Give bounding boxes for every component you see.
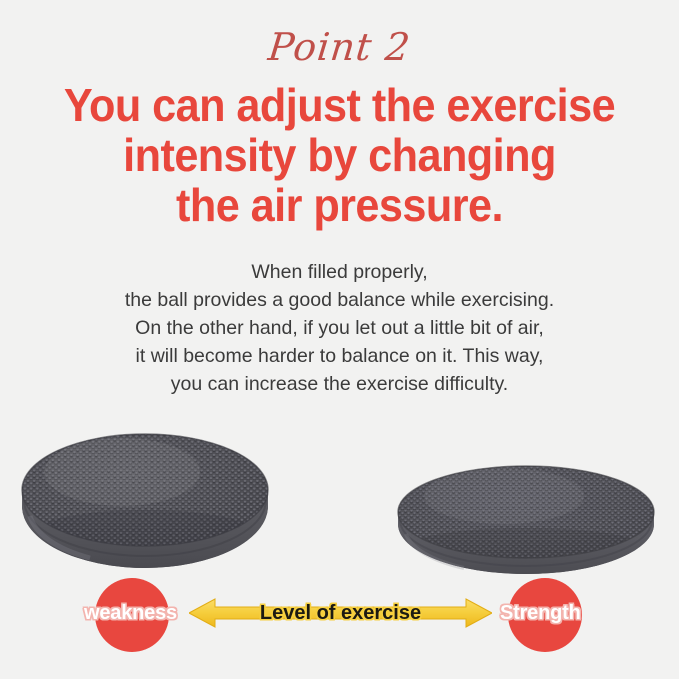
- infographic-canvas: Point 2 You can adjust the exercise inte…: [0, 0, 679, 679]
- body-line-4: it will become harder to balance on it. …: [40, 342, 639, 370]
- headline-line-1: You can adjust the exercise: [37, 80, 641, 130]
- scale-arrow-label: Level of exercise: [189, 599, 492, 627]
- balance-disc-partly-deflated-image: [392, 462, 660, 576]
- exercise-level-scale: Level of exercise weakness Strength: [0, 578, 679, 652]
- headline-line-2: intensity by changing: [37, 130, 641, 180]
- body-line-2: the ball provides a good balance while e…: [40, 286, 639, 314]
- balance-disc-fully-inflated-image: [14, 428, 276, 576]
- scale-label-strength: Strength: [500, 598, 581, 628]
- scale-label-weakness: weakness: [84, 598, 177, 628]
- body-line-5: you can increase the exercise difficulty…: [40, 370, 639, 398]
- body-paragraph: When filled properly, the ball provides …: [40, 258, 639, 398]
- page-title: You can adjust the exercise intensity by…: [37, 80, 641, 230]
- body-line-1: When filled properly,: [40, 258, 639, 286]
- eyebrow-point-label: Point 2: [0, 28, 679, 66]
- headline-line-3: the air pressure.: [37, 180, 641, 230]
- body-line-3: On the other hand, if you let out a litt…: [40, 314, 639, 342]
